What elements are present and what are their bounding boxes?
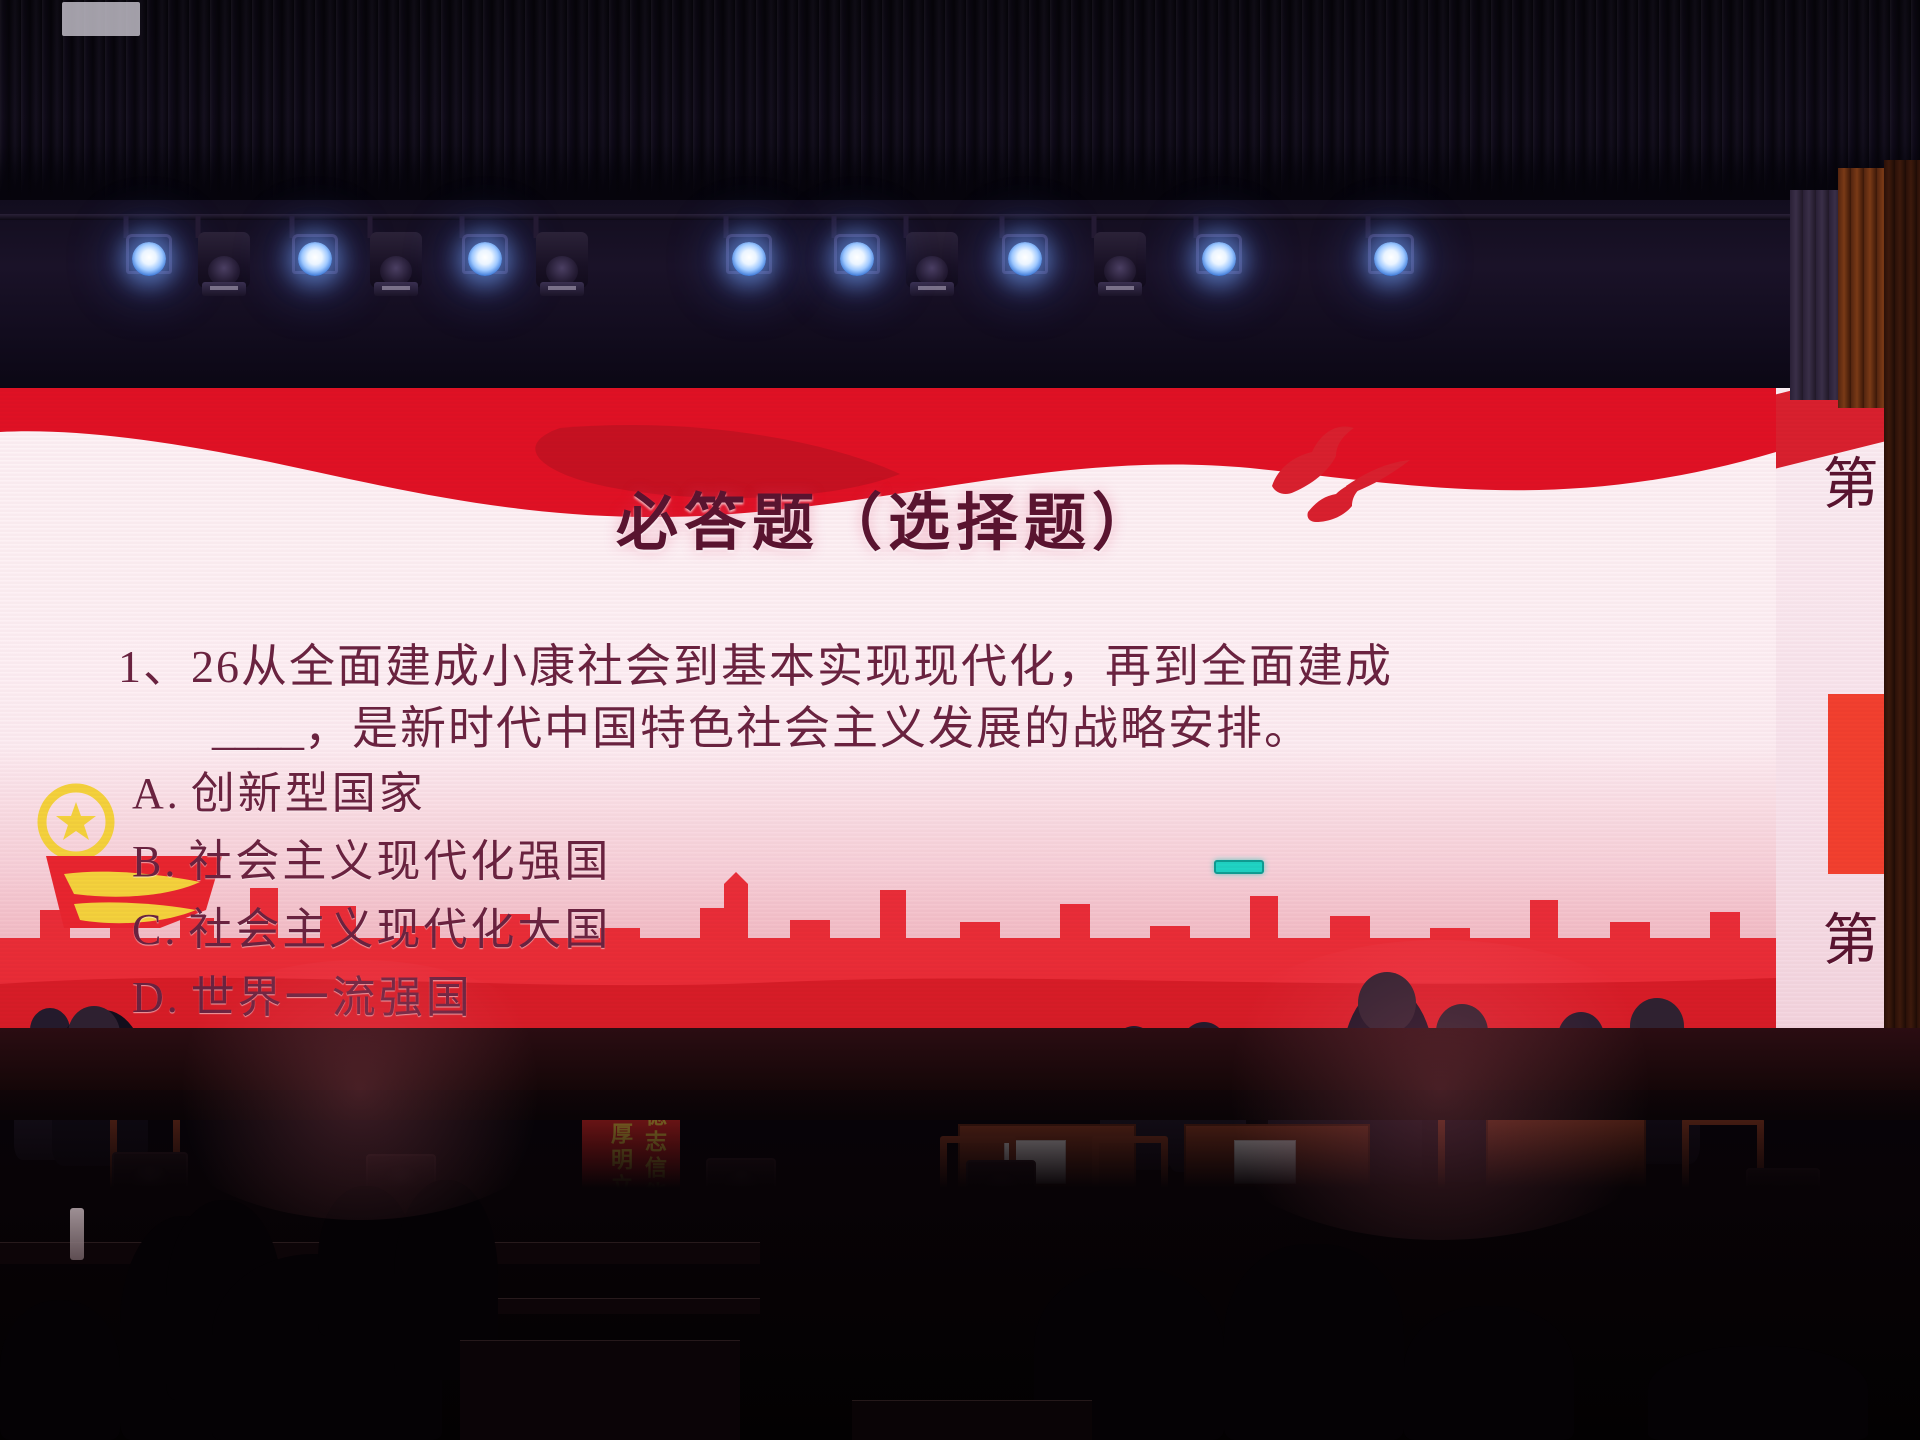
side-led-screen: 第 第 <box>1776 388 1892 1048</box>
option-a-tag: A. <box>132 769 181 818</box>
audience-table <box>852 1400 1092 1440</box>
participant-head <box>1358 972 1416 1034</box>
page-title: 必答题（选择题） <box>0 472 1776 562</box>
option-c-tag: C. <box>132 905 178 954</box>
main-led-screen: 必答题（选择题） 1、26从全面建成小康社会到基本实现现代化，再到全面建成 __… <box>0 388 1776 1048</box>
side-screen-red-block <box>1828 694 1890 874</box>
option-c[interactable]: C.社会主义现代化大国 <box>118 896 1678 964</box>
option-d-label: 世界一流强国 <box>191 973 473 1022</box>
teal-marker-icon <box>1214 860 1264 874</box>
option-b[interactable]: B.社会主义现代化强国 <box>118 828 1678 896</box>
question-block: 1、26从全面建成小康社会到基本实现现代化，再到全面建成 ____，是新时代中国… <box>118 636 1678 1032</box>
side-curtain-dark <box>1884 160 1920 1060</box>
option-d-tag: D. <box>132 973 181 1022</box>
audience-silhouette <box>1224 1244 1404 1440</box>
option-c-label: 社会主义现代化大国 <box>188 905 611 954</box>
side-screen-char-bottom: 第 <box>1805 910 1886 970</box>
audience-silhouette <box>1404 1306 1574 1440</box>
truss-bar <box>0 214 1920 220</box>
question-line-1: 1、26从全面建成小康社会到基本实现现代化，再到全面建成 <box>118 636 1678 698</box>
lighting-truss-band <box>0 200 1920 390</box>
stage-scene: 必答题（选择题） 1、26从全面建成小康社会到基本实现现代化，再到全面建成 __… <box>0 0 1920 1440</box>
question-number: 1、26 <box>118 641 241 692</box>
question-text-1: 从全面建成小康社会到基本实现现代化，再到全面建成 <box>241 641 1393 692</box>
side-curtain-brown <box>1838 168 1890 408</box>
side-curtain-purple <box>1790 190 1842 400</box>
option-a-label: 创新型国家 <box>191 769 426 818</box>
question-blank: ____ <box>212 703 304 754</box>
option-b-label: 社会主义现代化强国 <box>188 837 611 886</box>
ceiling-sign <box>62 2 140 36</box>
audience-silhouette <box>1648 1346 1868 1440</box>
side-screen-char-top: 第 <box>1805 454 1886 514</box>
option-a[interactable]: A.创新型国家 <box>118 760 1678 828</box>
audience-table <box>460 1340 740 1440</box>
water-bottle <box>70 1208 84 1260</box>
audience-silhouette <box>0 1300 120 1440</box>
question-line-2: ____，是新时代中国特色社会主义发展的战略安排。 <box>118 698 1678 760</box>
question-text-2: ，是新时代中国特色社会主义发展的战略安排。 <box>304 703 1312 754</box>
option-b-tag: B. <box>132 837 178 886</box>
